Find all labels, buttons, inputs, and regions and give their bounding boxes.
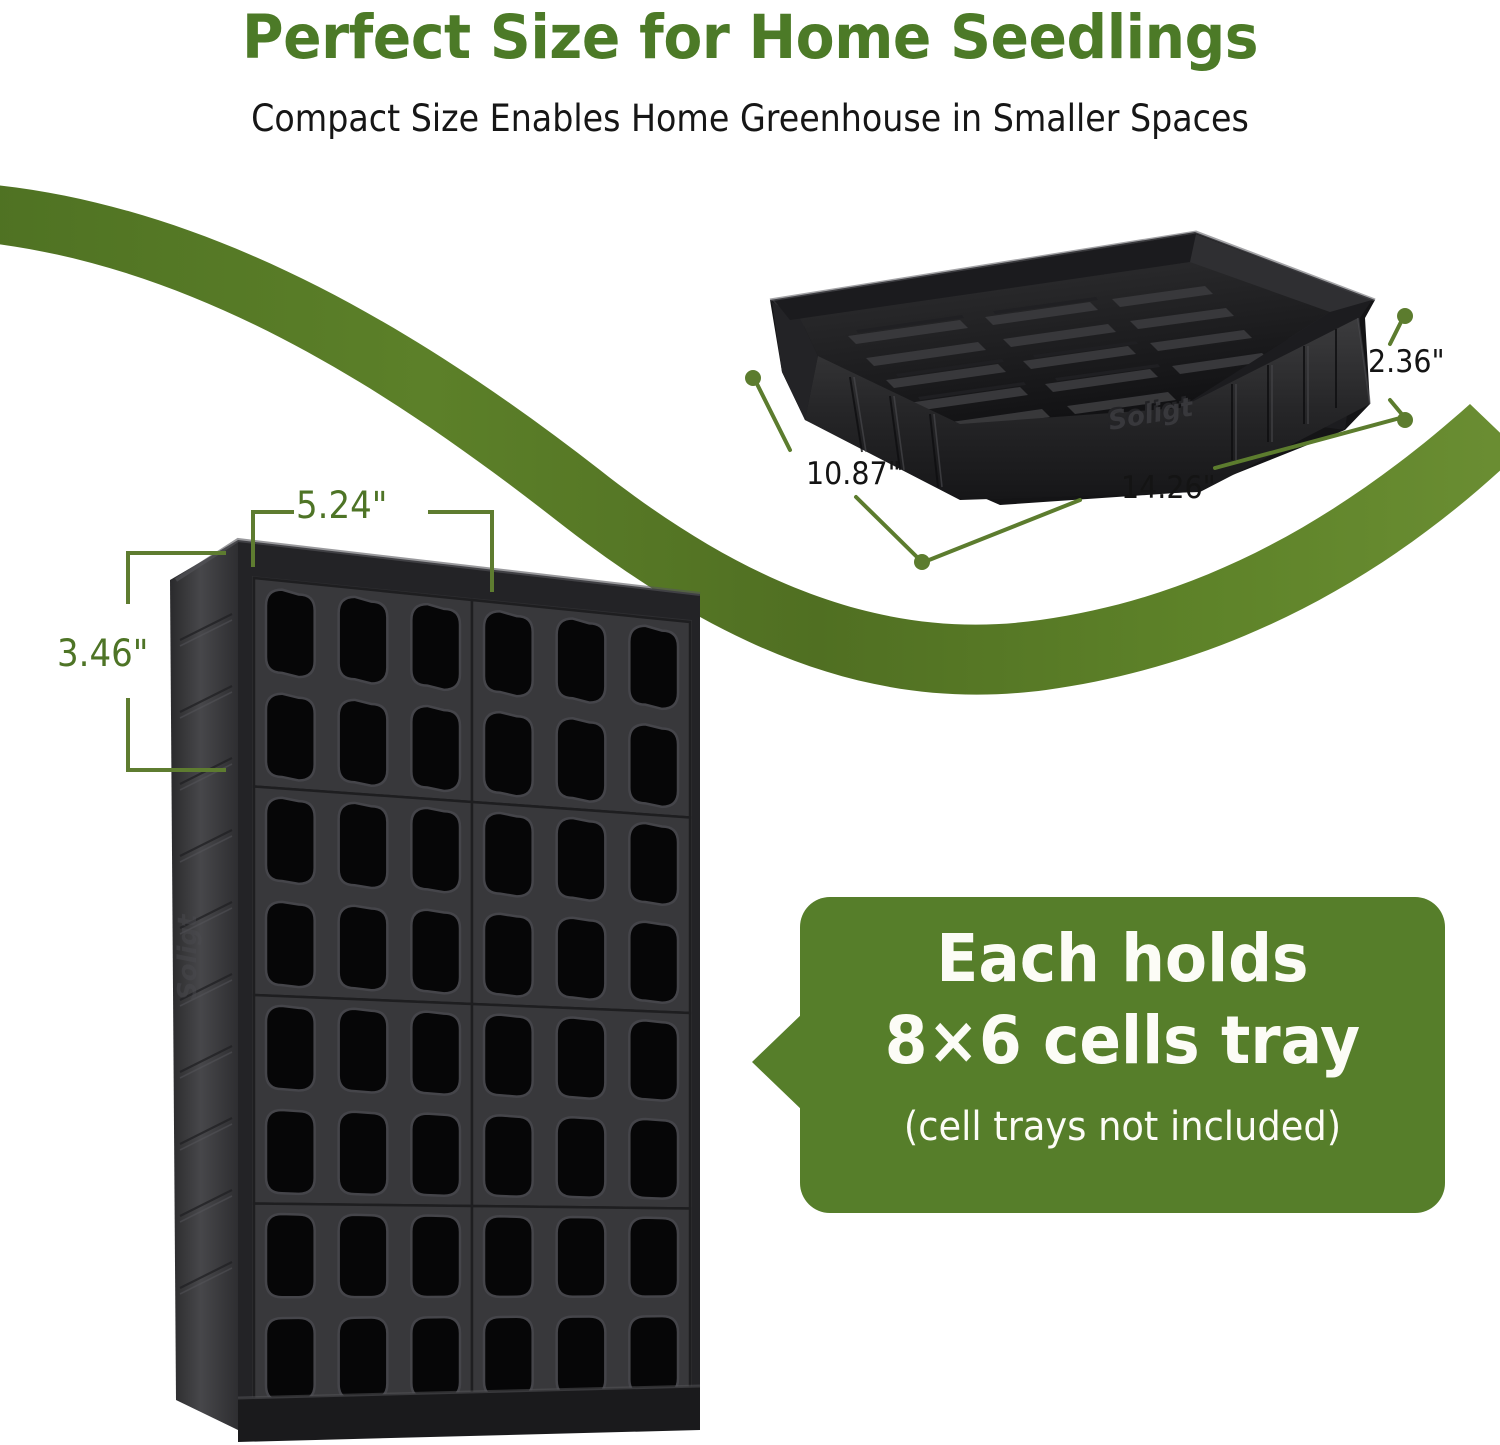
tray-cell [557,918,606,1000]
callout-tail-icon [752,1012,804,1112]
tray-cell [629,1020,678,1100]
tray-cell [484,914,533,997]
tray-cell [629,724,678,806]
tray-cell [411,1215,460,1297]
tray-cell [629,1316,678,1395]
callout-line-1: Each holds [823,921,1423,997]
tray-cell [557,1017,606,1098]
dimension-label-insert-depth: 3.46" [57,632,148,675]
tray-cell [629,626,678,709]
tray-cell [411,910,460,994]
tray-cell [484,1115,533,1196]
tray-cell [266,1214,315,1297]
tray-cell [411,1012,460,1095]
tray-cell [557,619,606,703]
callout-line-2: 8×6 cells tray [823,1003,1423,1079]
tray-cell [411,1114,460,1196]
tray-cell [557,1316,606,1396]
tray-cell [411,604,460,690]
tray-cell [484,1015,533,1097]
callout-box: Each holds 8×6 cells tray (cell trays no… [800,897,1445,1213]
tray-cell [484,813,533,896]
tray-cell [266,590,315,678]
tray-cell [339,1009,388,1093]
dimension-label-length: 14.26" [1121,470,1216,506]
tray-cell [484,1317,533,1398]
tray-cell [339,906,388,990]
dimension-label-insert-width: 5.24" [296,484,387,527]
tray-cell [629,922,678,1003]
tray-cell [557,1217,606,1297]
tray-cell [266,798,315,884]
tray-cell [266,902,315,987]
tray-cell [557,1117,606,1197]
tray-cell [411,1317,460,1399]
tray-cell [339,1112,388,1195]
tray-cell [266,1318,315,1401]
tray-cell [484,712,533,796]
tray-cell [339,597,388,684]
dimension-label-height: 2.36" [1368,344,1445,380]
dimension-label-depth: 10.87" [806,456,901,492]
tray-cell [629,1119,678,1199]
infographic-canvas: Perfect Size for Home Seedlings Compact … [0,0,1500,1445]
tray-cell [629,1218,678,1297]
tray-cell [266,1110,315,1194]
tray-cell [266,694,315,781]
tray-cell [484,1216,533,1297]
tray-cell [339,1215,388,1297]
tray-cell [411,808,460,892]
tray-cell [629,823,678,905]
tray-cell [557,818,606,901]
tray-cell [411,706,460,791]
tray-cell [339,803,388,888]
insert-cell-tray-illustration: Soligt [0,0,1500,1445]
tray-cell [339,1318,388,1401]
tray-cell [266,1006,315,1091]
tray-cell [339,700,388,786]
tray-cell [484,611,533,696]
svg-text:Soligt: Soligt [173,913,203,1000]
callout-note: (cell trays not included) [826,1102,1419,1152]
tray-cell [557,718,606,801]
